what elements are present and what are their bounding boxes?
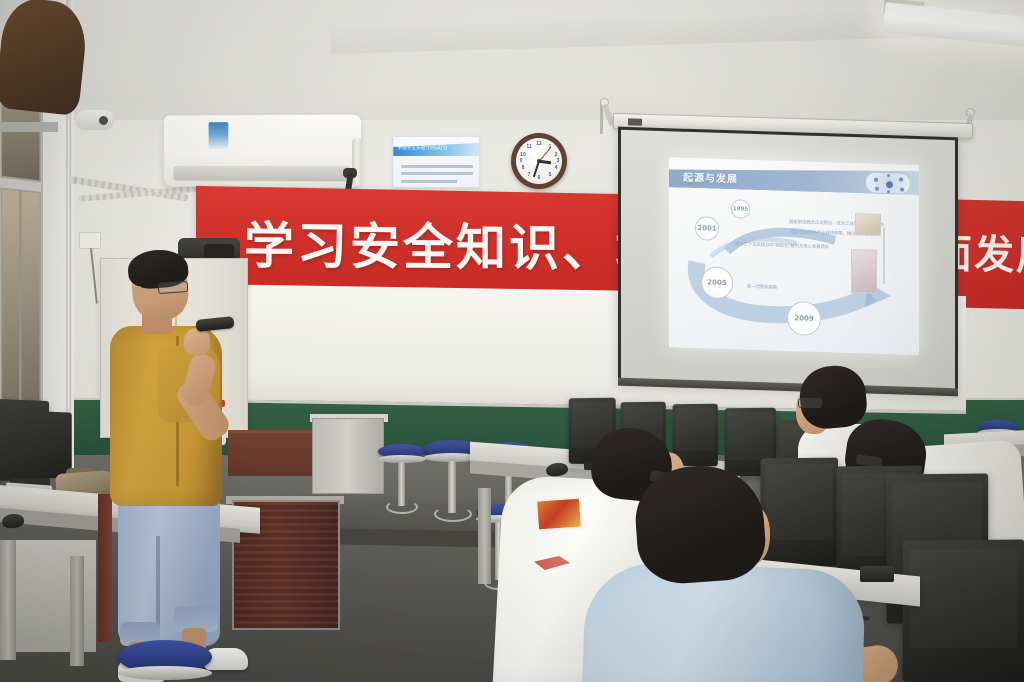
clock-numeral: 7 [525, 171, 533, 179]
classroom-scene: 学院学生实验守则(试行) 12 1 2 3 4 5 6 7 8 9 10 11 … [0, 0, 1024, 682]
student-long-hair [0, 0, 84, 112]
glasses-icon [158, 281, 189, 294]
presenter-ear [133, 286, 144, 301]
logo-dot [900, 188, 904, 192]
grey-equipment-box [312, 418, 384, 494]
slide-connector [883, 228, 885, 284]
clock-face: 12 1 2 3 4 5 6 7 8 9 10 11 [516, 138, 562, 184]
clock-numeral: 6 [535, 174, 543, 182]
housing-tab [628, 118, 642, 125]
clock-numeral: 5 [546, 171, 554, 179]
window-mullion [19, 189, 21, 434]
desk-left-leg-2 [70, 556, 84, 666]
projection-screen: 起源与发展 2001 1995 2005 [618, 127, 958, 393]
projected-slide: 起源与发展 2001 1995 2005 [669, 157, 919, 355]
desk-left-leg [0, 540, 16, 660]
stool-base [386, 500, 418, 514]
clock-numeral: 8 [519, 164, 527, 172]
wall-clock: 12 1 2 3 4 5 6 7 8 9 10 11 [511, 133, 567, 189]
clock-center-pin [537, 159, 541, 163]
presenter-hand [184, 328, 210, 356]
logo-dot [887, 174, 890, 177]
logo-dot [887, 190, 890, 193]
conduit-pipe-vertical [66, 60, 71, 450]
notice-line [401, 172, 473, 175]
ac-energy-label [209, 122, 229, 149]
glasses-icon [798, 398, 822, 408]
desk-middle-leg [478, 488, 491, 584]
clock-numeral: 11 [525, 143, 533, 151]
presenter [104, 250, 264, 680]
shirt-graphic [535, 496, 583, 531]
slide-thumbnail-bottom [851, 249, 877, 294]
student-hair [0, 0, 90, 116]
stool-base [434, 506, 472, 522]
ac-vent [173, 166, 350, 182]
power-outlet[interactable] [79, 232, 101, 249]
slide-body-line-3: 新一代智能装备 [747, 284, 777, 291]
wall-notice-poster: 学院学生实验守则(试行) [392, 136, 480, 188]
logo-dot [875, 187, 879, 191]
clock-numeral: 12 [535, 140, 543, 148]
timeline-node-1: 2001 [695, 216, 719, 241]
wall-sensor-icon [76, 110, 114, 130]
window-sill [0, 122, 58, 132]
timeline-node-3: 2009 [787, 301, 821, 336]
slide-title: 起源与发展 [683, 169, 738, 186]
desk-device-box [860, 566, 894, 582]
air-conditioner [164, 114, 361, 187]
notice-line [401, 180, 457, 183]
timeline-node-2: 2005 [701, 266, 733, 299]
ac-pipe [352, 138, 362, 186]
logo-dot [899, 177, 903, 181]
clock-numeral: 10 [519, 151, 527, 159]
stool-rim [118, 666, 212, 680]
slide-thumbnail-top [855, 213, 881, 236]
logo-dot [886, 181, 893, 188]
notice-title: 学院学生实验守则(试行) [397, 144, 475, 151]
presentation-clicker[interactable] [195, 316, 234, 332]
notice-line [401, 165, 473, 168]
slide-logo-icon [865, 171, 911, 194]
logo-dot [874, 178, 878, 182]
monitor [760, 458, 838, 567]
monitor [903, 539, 1024, 682]
timeline-node-0: 1995 [731, 199, 750, 219]
